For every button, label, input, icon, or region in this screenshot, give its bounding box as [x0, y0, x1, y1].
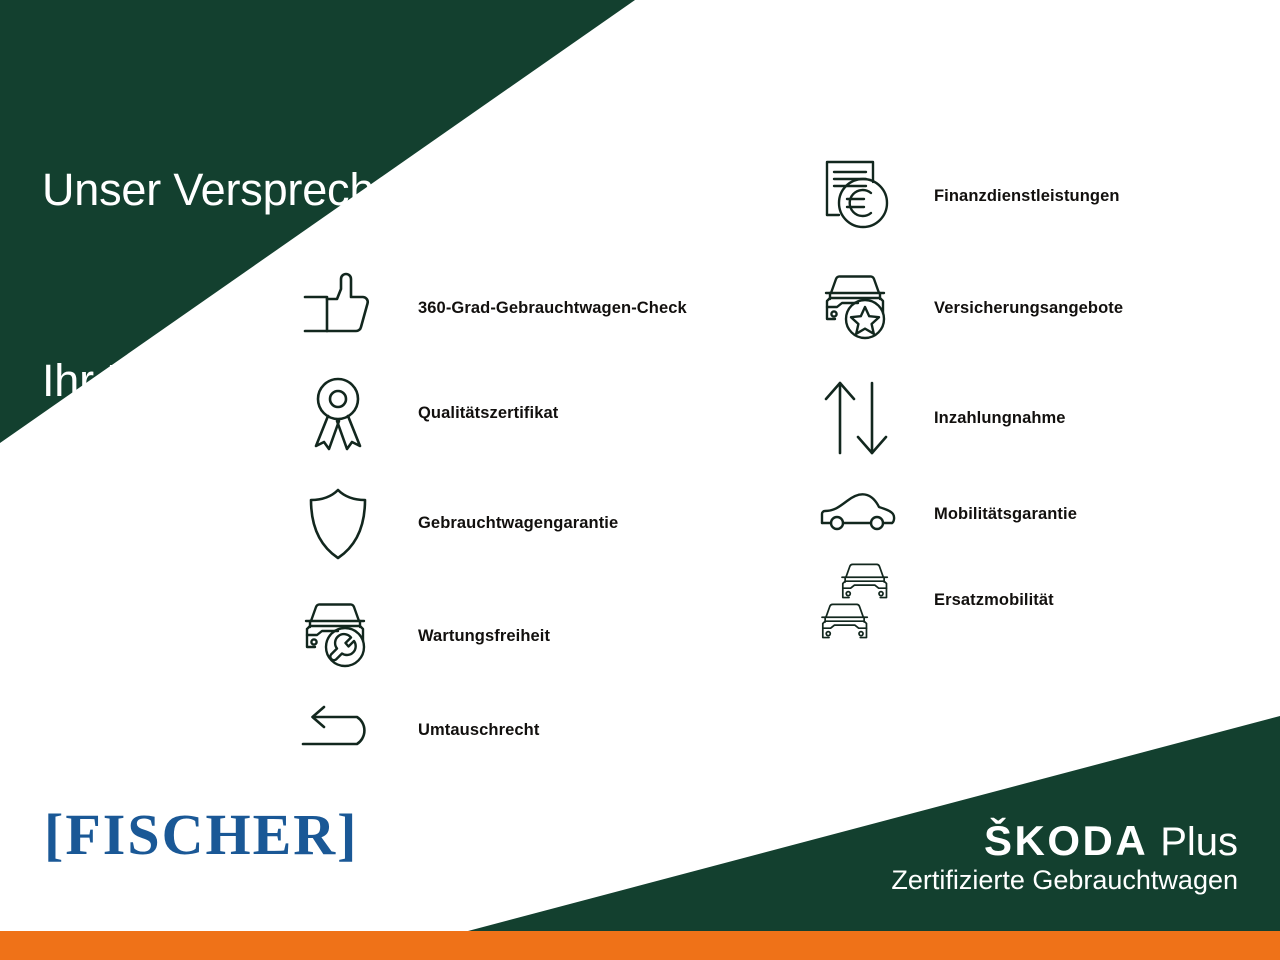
- feature-label: Wartungsfreiheit: [418, 627, 550, 646]
- feature-item: Wartungsfreiheit: [292, 590, 550, 682]
- brand-logo: ŠKODA Plus Zertifizierte Gebrauchtwagen: [891, 820, 1238, 895]
- feature-label: Finanzdienstleistungen: [934, 187, 1120, 206]
- feature-item: Finanzdienstleistungen: [812, 150, 1120, 242]
- thumbs-up-icon: [292, 262, 384, 354]
- up-down-arrows-icon: [812, 372, 904, 464]
- headline-line-1: Unser Versprechen.: [42, 158, 436, 222]
- feature-item: 360-Grad-Gebrauchtwagen-Check: [292, 262, 687, 354]
- feature-label: Qualitätszertifikat: [418, 404, 558, 423]
- feature-label: Inzahlungnahme: [934, 409, 1066, 428]
- feature-item: Versicherungsangebote: [812, 262, 1123, 354]
- car-wrench-icon: [292, 590, 384, 682]
- car-side-icon: [812, 468, 904, 560]
- brand-suffix: Plus: [1160, 822, 1238, 862]
- feature-label: Mobilitätsgarantie: [934, 505, 1077, 524]
- award-rosette-icon: [292, 367, 384, 459]
- feature-label: Gebrauchtwagengarantie: [418, 514, 618, 533]
- brand-name: ŠKODA: [984, 820, 1148, 862]
- feature-label: Umtauschrecht: [418, 721, 539, 740]
- feature-label: Versicherungsangebote: [934, 299, 1123, 318]
- feature-item: Inzahlungnahme: [812, 372, 1066, 464]
- feature-item: Qualitätszertifikat: [292, 367, 558, 459]
- feature-item: Ersatzmobilität: [812, 554, 1054, 646]
- orange-bottom-bar: [0, 931, 1280, 960]
- brand-logo-top: ŠKODA Plus: [891, 820, 1238, 862]
- shield-icon: [292, 477, 384, 569]
- promo-banner: Unser Versprechen. Ihr Plus. 360-Grad-Ge…: [0, 0, 1280, 960]
- brand-tagline: Zertifizierte Gebrauchtwagen: [891, 865, 1238, 895]
- feature-item: Gebrauchtwagengarantie: [292, 477, 618, 569]
- feature-label: Ersatzmobilität: [934, 591, 1054, 610]
- dealer-logo: [FISCHER]: [44, 806, 358, 864]
- return-arrow-icon: [292, 684, 384, 776]
- feature-item: Umtauschrecht: [292, 684, 539, 776]
- feature-item: Mobilitätsgarantie: [812, 468, 1077, 560]
- document-euro-icon: [812, 150, 904, 242]
- two-cars-icon: [812, 554, 904, 646]
- feature-label: 360-Grad-Gebrauchtwagen-Check: [418, 299, 687, 318]
- car-star-icon: [812, 262, 904, 354]
